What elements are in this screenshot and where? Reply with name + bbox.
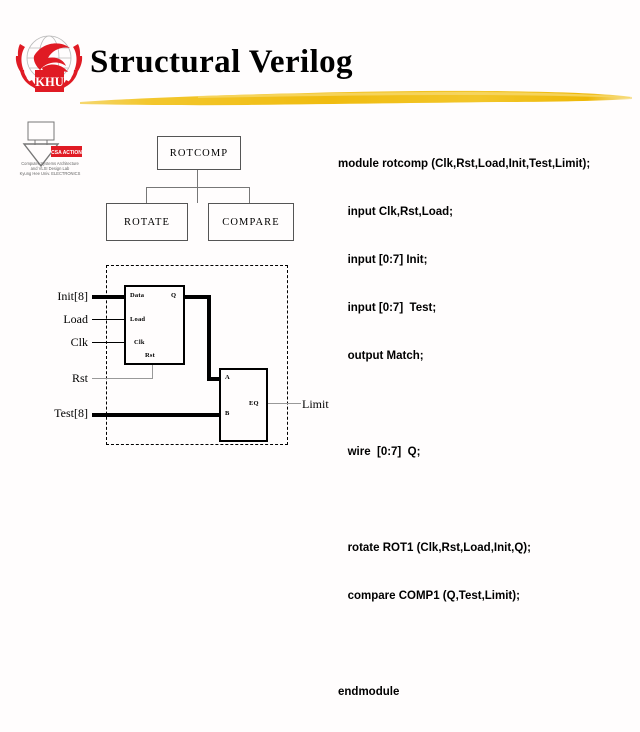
signal-label-rst: Rst	[40, 371, 88, 386]
signal-label-clk: Clk	[40, 335, 88, 350]
code-line: rotate ROT1 (Clk,Rst,Load,Init,Q);	[338, 540, 634, 556]
hier-connector-vertical-top	[197, 168, 198, 203]
wire-init-bus	[92, 295, 124, 299]
hierarchy-box-rotcomp[interactable]: ROTCOMP	[157, 136, 241, 170]
code-line: input [0:7] Test;	[338, 300, 634, 316]
wire-eq-limit	[264, 403, 301, 404]
hier-connector-vertical-left	[146, 187, 147, 203]
wire-clk	[92, 342, 124, 343]
wire-rst-horizontal	[92, 378, 153, 379]
signal-label-init: Init[8]	[40, 289, 88, 304]
verilog-code-block: module rotcomp (Clk,Rst,Load,Init,Test,L…	[338, 124, 634, 732]
signal-label-test: Test[8]	[40, 406, 88, 421]
code-line	[338, 636, 634, 652]
hier-connector-vertical-right	[249, 187, 250, 203]
pin-label-clk: Clk	[134, 339, 145, 346]
pin-label-q: Q	[171, 292, 176, 299]
khu-logo-text: KHU	[35, 75, 63, 89]
hier-connector-horizontal	[146, 187, 250, 188]
code-line: input [0:7] Init;	[338, 252, 634, 268]
gold-underline-decoration	[78, 86, 634, 108]
hierarchy-box-rotate[interactable]: ROTATE	[106, 203, 188, 241]
wire-load	[92, 319, 124, 320]
code-line	[338, 492, 634, 508]
pin-label-load: Load	[130, 316, 145, 323]
code-line: compare COMP1 (Q,Test,Limit);	[338, 588, 634, 604]
pin-label-data: Data	[130, 292, 144, 299]
code-line: input Clk,Rst,Load;	[338, 204, 634, 220]
code-line: module rotcomp (Clk,Rst,Load,Init,Test,L…	[338, 156, 634, 172]
hierarchy-box-rotate-label: ROTATE	[124, 217, 170, 228]
signal-label-load: Load	[40, 312, 88, 327]
csa-action-badge-text: CSA ACTION	[51, 150, 82, 156]
hierarchy-box-compare-label: COMPARE	[222, 217, 280, 228]
code-line: output Match;	[338, 348, 634, 364]
svg-text:Kyung Hee Univ. ELECTRONICS: Kyung Hee Univ. ELECTRONICS	[20, 171, 81, 176]
csa-action-logo: CSA ACTION Computer Systems Architecture…	[14, 118, 86, 180]
slide-canvas: KHU Structural Verilog	[0, 0, 640, 480]
pin-label-b: B	[225, 410, 230, 417]
code-line: endmodule	[338, 684, 634, 700]
hierarchy-box-compare[interactable]: COMPARE	[208, 203, 294, 241]
khu-logo: KHU	[12, 26, 86, 98]
pin-label-rst: Rst	[145, 352, 155, 359]
pin-label-eq: EQ	[249, 400, 259, 407]
schematic-diagram: Init[8] Load Clk Rst Test[8] Limit Data …	[40, 258, 340, 454]
wire-q-bus-vertical	[207, 295, 211, 381]
page-title: Structural Verilog	[90, 44, 353, 81]
hierarchy-box-rotcomp-label: ROTCOMP	[170, 148, 228, 159]
pin-label-a: A	[225, 374, 230, 381]
module-hierarchy-diagram: ROTCOMP ROTATE COMPARE	[100, 130, 300, 245]
wire-test-bus	[92, 413, 219, 417]
code-line	[338, 396, 634, 412]
code-line: wire [0:7] Q;	[338, 444, 634, 460]
